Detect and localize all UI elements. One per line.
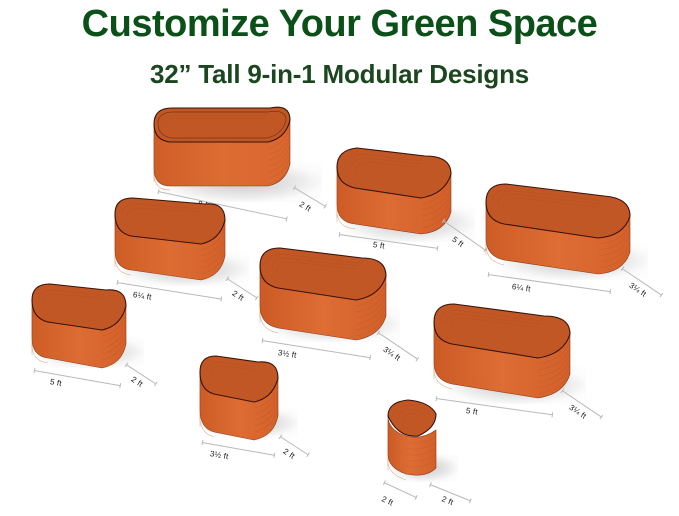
planter-body bbox=[478, 180, 663, 290]
planter-body bbox=[424, 296, 599, 412]
dimension-label-width: 5 ft bbox=[49, 377, 62, 388]
planter-body bbox=[192, 348, 307, 454]
planter-body bbox=[248, 240, 413, 352]
infographic-canvas: Customize Your Green Space 32” Tall 9-in… bbox=[0, 0, 679, 516]
planter-body bbox=[378, 396, 478, 500]
page-subtitle: 32” Tall 9-in-1 Modular Designs bbox=[0, 58, 679, 90]
dimension-label-width: 3½ ft bbox=[209, 449, 229, 461]
planter-body bbox=[22, 278, 152, 382]
dimension-label-width: 6¼ ft bbox=[511, 282, 531, 294]
page-title: Customize Your Green Space bbox=[0, 2, 679, 46]
